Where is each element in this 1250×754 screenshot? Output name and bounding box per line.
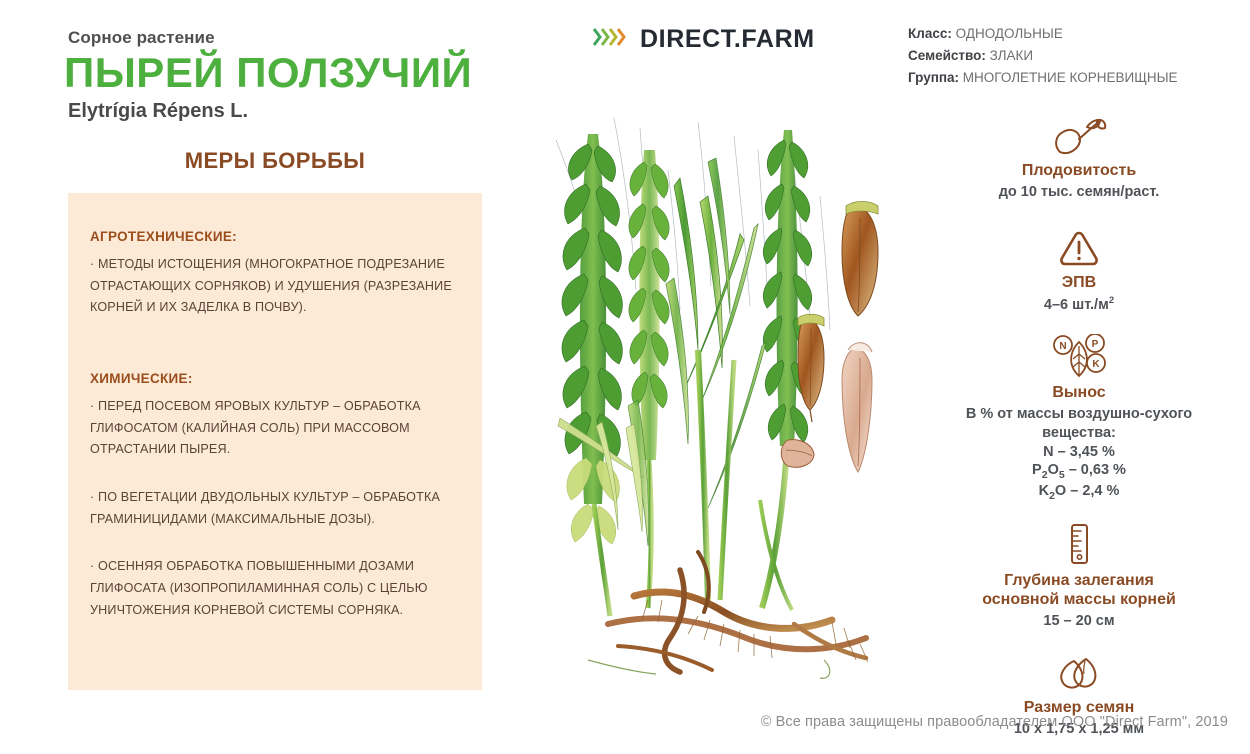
fact-fertility-title: Плодовитость (908, 161, 1250, 180)
o-symbol: O (1048, 462, 1059, 478)
svg-text:N: N (1059, 341, 1066, 352)
fact-depth-value: 15 – 20 см (908, 612, 1250, 631)
fact-etp-value: 4–6 шт./м2 (908, 295, 1250, 314)
fact-removal-intro-1: В % от массы воздушно-сухого (908, 405, 1250, 424)
taxonomy-value-class: ОДНОДОЛЬНЫЕ (956, 26, 1063, 41)
taxonomy-value-family: ЗЛАКИ (990, 48, 1033, 63)
plant-illustration (548, 100, 910, 682)
p-symbol: P (1032, 462, 1042, 478)
fact-removal: N P K Вынос В % от массы воздушно-сухого… (908, 334, 1250, 503)
k-value: – 2,4 % (1066, 483, 1119, 499)
fact-fertility-value: до 10 тыс. семян/раст. (908, 183, 1250, 202)
agrotechnical-title: АГРОТЕХНИЧЕСКИЕ: (90, 229, 470, 244)
taxonomy-value-group: МНОГОЛЕТНИЕ КОРНЕВИЩНЫЕ (963, 70, 1178, 85)
fact-depth-title-line2: основной массы корней (908, 590, 1250, 609)
fact-etp-title: ЭПВ (908, 273, 1250, 292)
chemical-bullet-2: · ПО ВЕГЕТАЦИИ ДВУДОЛЬНЫХ КУЛЬТУР – ОБРА… (90, 487, 470, 530)
taxonomy-row-group: Группа: МНОГОЛЕТНИЕ КОРНЕВИЩНЫЕ (908, 67, 1250, 89)
copyright-footer: © Все права защищены правообладателем ОО… (0, 714, 1250, 730)
svg-text:K: K (1092, 359, 1100, 370)
measures-heading: МЕРЫ БОРЬБЫ (68, 148, 482, 174)
fact-depth-title-line1: Глубина залегания (908, 571, 1250, 590)
facts-panel: Плодовитость до 10 тыс. семян/раст. ЭПВ … (908, 112, 1250, 754)
fact-depth: Глубина залегания основной массы корней … (908, 522, 1250, 631)
plant-kicker: Сорное растение (68, 28, 215, 48)
left-column: Сорное растение ПЫРЕЙ ПОЛЗУЧИЙ Elytrígia… (0, 0, 540, 748)
sprouting-seed-icon (908, 112, 1250, 156)
fact-removal-row-p: P2O5 – 0,63 % (908, 461, 1250, 482)
taxonomy-label-class: Класс: (908, 26, 952, 41)
ruler-icon (908, 522, 1250, 566)
measures-panel: АГРОТЕХНИЧЕСКИЕ: · МЕТОДЫ ИСТОЩЕНИЯ (МНО… (68, 193, 482, 690)
fact-etp-value-sup: 2 (1109, 295, 1114, 306)
chemical-title: ХИМИЧЕСКИЕ: (90, 371, 470, 386)
plant-latin-name: Elytrígia Répens L. (68, 100, 248, 123)
fact-etp-value-text: 4–6 шт./м (1044, 297, 1109, 313)
fact-fertility: Плодовитость до 10 тыс. семян/раст. (908, 112, 1250, 202)
taxonomy-row-class: Класс: ОДНОДОЛЬНЫЕ (908, 23, 1250, 45)
taxonomy-label-family: Семейство: (908, 48, 986, 63)
taxonomy-label-group: Группа: (908, 70, 959, 85)
k-symbol: K (1039, 483, 1049, 499)
chemical-bullet-3: · ОСЕННЯЯ ОБРАБОТКА ПОВЫШЕННЫМИ ДОЗАМИ Г… (90, 556, 470, 621)
svg-text:P: P (1092, 339, 1099, 350)
seeds-icon (908, 649, 1250, 693)
brand-logo[interactable]: DIRECT.FARM (592, 24, 815, 55)
taxonomy-block: Класс: ОДНОДОЛЬНЫЕ Семейство: ЗЛАКИ Груп… (908, 23, 1250, 89)
page-title: ПЫРЕЙ ПОЛЗУЧИЙ (64, 52, 472, 94)
warning-triangle-icon (908, 224, 1250, 268)
agrotechnical-bullet: · МЕТОДЫ ИСТОЩЕНИЯ (МНОГОКРАТНОЕ ПОДРЕЗА… (90, 254, 470, 319)
agrotechnical-block: АГРОТЕХНИЧЕСКИЕ: · МЕТОДЫ ИСТОЩЕНИЯ (МНО… (90, 229, 470, 319)
brand-logo-text: DIRECT.FARM (640, 25, 815, 54)
fact-removal-row-k: K2O – 2,4 % (908, 482, 1250, 503)
npk-leaf-icon: N P K (908, 334, 1250, 378)
chemical-bullet-1: · ПЕРЕД ПОСЕВОМ ЯРОВЫХ КУЛЬТУР – ОБРАБОТ… (90, 396, 470, 461)
taxonomy-row-family: Семейство: ЗЛАКИ (908, 45, 1250, 67)
chemical-block: ХИМИЧЕСКИЕ: · ПЕРЕД ПОСЕВОМ ЯРОВЫХ КУЛЬТ… (90, 371, 470, 621)
fact-etp: ЭПВ 4–6 шт./м2 (908, 224, 1250, 315)
chevron-waves-logo-icon (592, 24, 626, 55)
fact-removal-title: Вынос (908, 383, 1250, 402)
fact-removal-intro-2: вещества: (908, 424, 1250, 443)
fact-removal-row-n: N – 3,45 % (908, 443, 1250, 462)
ko-symbol: O (1055, 483, 1066, 499)
p-value: – 0,63 % (1065, 462, 1126, 478)
